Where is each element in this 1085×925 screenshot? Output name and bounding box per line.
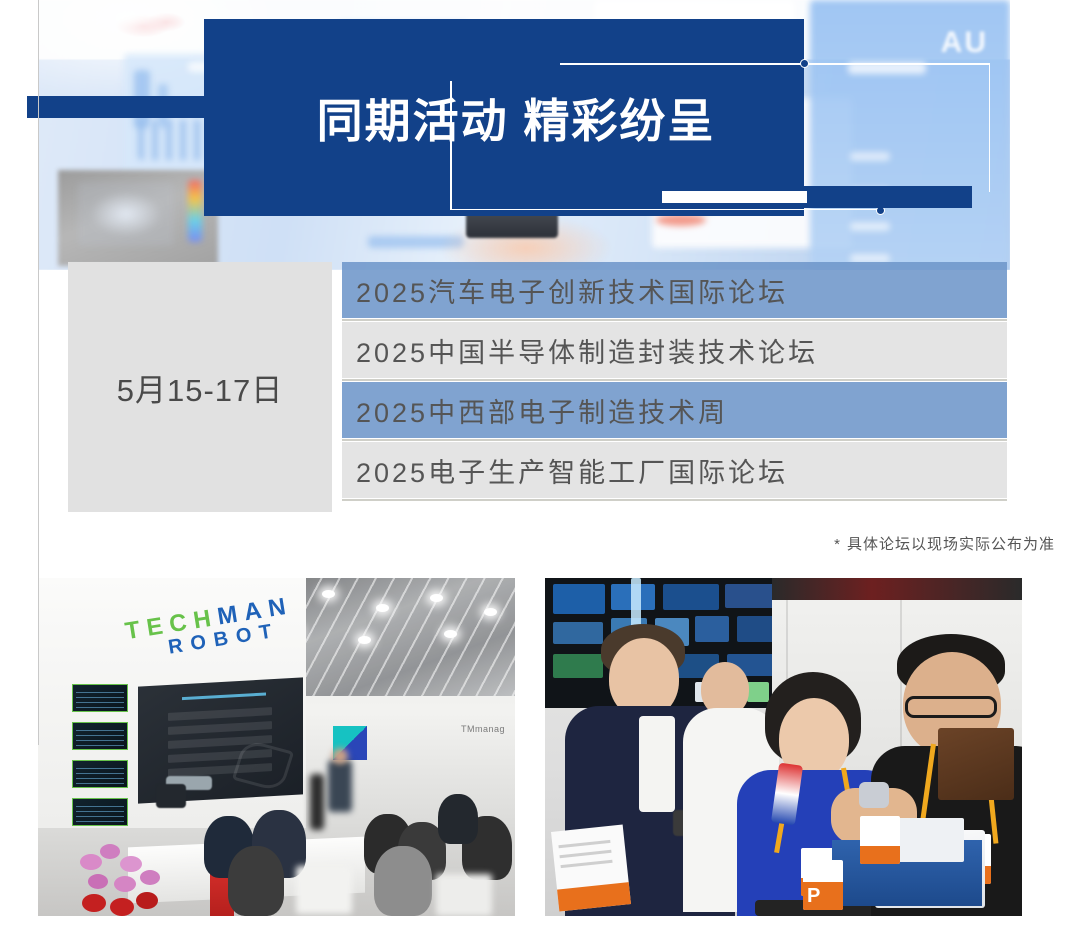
title-banner: 同期活动 精彩纷呈 [0,0,972,270]
wristwatch [859,782,889,808]
banner-right-bar-notch [662,191,807,203]
audience-member [228,846,284,916]
forum-list-item[interactable]: 2025中国半导体制造封装技术论坛 [342,322,1007,378]
photo-techman-booth: TECHMAN ROBOT TMmanag [38,578,515,916]
glasses-icon [905,696,997,718]
banner-frame-right-vertical [989,63,991,192]
date-card: 5月15-17日 [68,262,332,512]
forum-title: 2025电子生产智能工厂国际论坛 [356,451,788,490]
booth-label-text: TMmanag [461,724,505,734]
flower-arrangement [74,836,194,916]
white-stool [436,874,492,916]
forum-list-item[interactable]: 2025汽车电子创新技术国际论坛 [342,262,1007,318]
presenter-head [332,748,348,764]
booth-top-band [772,578,1022,600]
forum-list-item[interactable]: 2025电子生产智能工厂国际论坛 [342,442,1007,498]
forum-title: 2025中国半导体制造封装技术论坛 [356,331,818,370]
wall-monitor-1 [72,684,128,712]
banner-dot-top-icon [800,59,809,68]
booth-monitor-small [156,784,186,808]
badge-with-letter: P [803,860,843,910]
photo-visitors-booth: P [545,578,1022,916]
footnote-star-icon: * [834,536,841,553]
forum-divider [342,498,1007,502]
badge-letter: P [807,885,820,908]
presenter-figure [328,760,352,812]
event-info-block: 5月15-17日 2025汽车电子创新技术国际论坛 2025中国半导体制造封装技… [0,262,1085,522]
figure-shirt [639,716,675,812]
wall-monitor-3 [72,760,128,788]
speaker-stand [310,774,324,830]
name-badge [860,816,900,864]
white-stool [296,866,352,914]
forum-list: 2025汽车电子创新技术国际论坛 2025中国半导体制造封装技术论坛 2025中… [342,262,1007,502]
wall-monitor-2 [72,722,128,750]
forum-list-item[interactable]: 2025中西部电子制造技术周 [342,382,1007,438]
date-label: 5月15-17日 [117,365,284,410]
audience-member [374,846,432,916]
forum-title: 2025汽车电子创新技术国际论坛 [356,271,788,310]
footnote-text: 具体论坛以现场实际公布为准 [847,536,1055,553]
wrench-graphic-icon [232,739,294,793]
brochure [551,824,631,911]
left-guide-rule [38,0,39,745]
wall-monitor-4 [72,798,128,826]
forum-title: 2025中西部电子制造技术周 [356,391,728,430]
leather-case [938,728,1014,800]
banner-frame-bottom-horizontal [450,209,880,211]
photo-gallery: TECHMAN ROBOT TMmanag [0,578,1085,918]
footnote: *具体论坛以现场实际公布为准 [0,533,1085,554]
banner-title: 同期活动 精彩纷呈 [246,44,786,191]
badge-bottom-band [860,846,900,864]
screen-title-line [182,692,266,700]
audience-member [438,794,478,844]
